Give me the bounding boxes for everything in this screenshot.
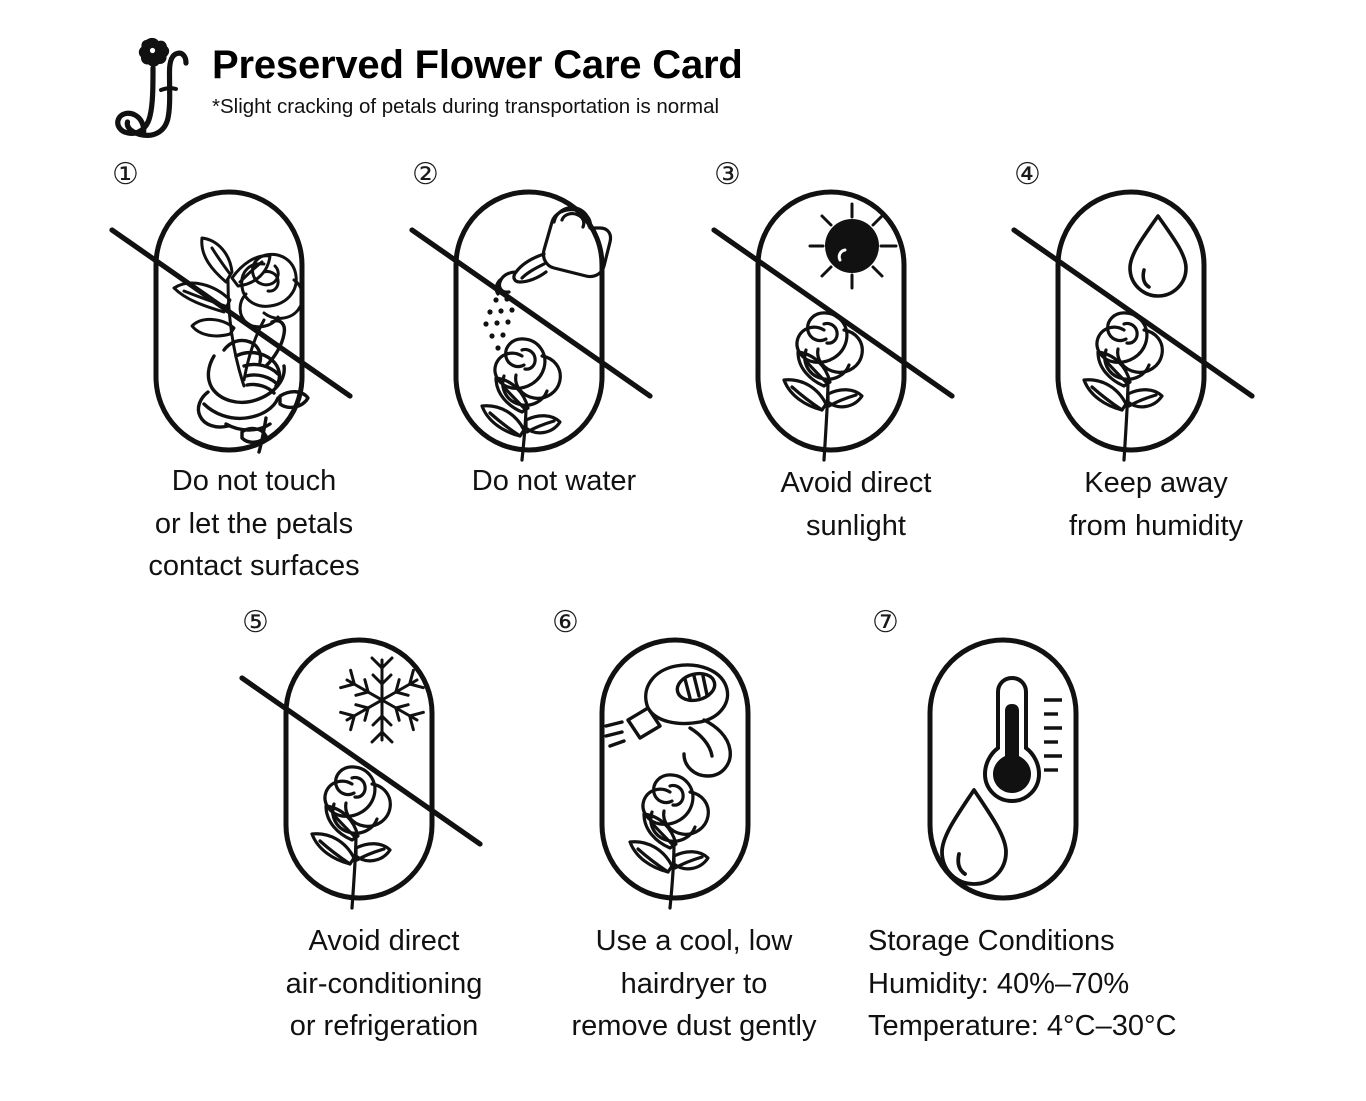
care-step-7-caption: Storage Conditions Humidity: 40%–70% Tem… (864, 920, 1168, 1048)
care-step-7: ⑦ (864, 608, 1164, 1048)
prohibition-slash (112, 230, 350, 396)
caption-line: Keep away (1006, 462, 1306, 505)
care-step-4: ④ (1006, 160, 1306, 547)
hand-touching-rose-icon (104, 160, 404, 460)
thermometer-glyph (985, 678, 1062, 801)
caption-line: or let the petals (104, 503, 404, 546)
care-step-6-illustration: ⑥ (544, 608, 844, 908)
care-steps-grid: ① (0, 0, 1366, 1101)
care-step-6-caption: Use a cool, low hairdryer to remove dust… (544, 920, 844, 1048)
care-step-6: ⑥ (544, 608, 844, 1048)
care-step-2-illustration: ② (404, 160, 704, 460)
care-step-5-caption: Avoid direct air-conditioning or refrige… (234, 920, 534, 1048)
caption-line: Avoid direct (706, 462, 1006, 505)
water-droplet-rose-icon (1006, 160, 1306, 460)
watering-can-rose-icon (404, 160, 704, 460)
storage-conditions-heading: Storage Conditions (868, 920, 1168, 963)
snowflake-rose-icon (234, 608, 534, 908)
temperature-range: Temperature: 4°C–30°C (868, 1005, 1168, 1048)
hairdryer-rose-icon (544, 608, 844, 908)
care-step-3-illustration: ③ (706, 160, 1006, 460)
care-step-2-caption: Do not water (404, 460, 704, 503)
thermometer-droplet-icon (864, 608, 1164, 908)
caption-line: Do not water (404, 460, 704, 503)
prohibition-slash (242, 678, 480, 844)
care-step-4-caption: Keep away from humidity (1006, 462, 1306, 547)
care-step-5-illustration: ⑤ (234, 608, 534, 908)
caption-line: hairdryer to (544, 963, 844, 1006)
care-step-1-caption: Do not touch or let the petals contact s… (104, 460, 404, 588)
care-step-3: ③ (706, 160, 1006, 547)
humidity-range: Humidity: 40%–70% (868, 963, 1168, 1006)
caption-line: air-conditioning (234, 963, 534, 1006)
caption-line: contact surfaces (104, 545, 404, 588)
caption-line: sunlight (706, 505, 1006, 548)
care-step-3-caption: Avoid direct sunlight (706, 462, 1006, 547)
care-step-2: ② (404, 160, 704, 503)
care-step-1: ① (104, 160, 404, 588)
humidity-droplet-glyph (942, 790, 1006, 884)
caption-line: Avoid direct (234, 920, 534, 963)
care-step-7-illustration: ⑦ (864, 608, 1164, 908)
prohibition-slash (412, 230, 650, 396)
care-step-5: ⑤ (234, 608, 534, 1048)
caption-line: from humidity (1006, 505, 1306, 548)
sun-rose-icon (706, 160, 1006, 460)
sun-disc (825, 219, 879, 273)
care-step-1-illustration: ① (104, 160, 404, 460)
caption-line: Do not touch (104, 460, 404, 503)
caption-line: remove dust gently (544, 1005, 844, 1048)
snowflake-glyph (341, 658, 424, 742)
caption-line: Use a cool, low (544, 920, 844, 963)
care-step-4-illustration: ④ (1006, 160, 1306, 460)
caption-line: or refrigeration (234, 1005, 534, 1048)
